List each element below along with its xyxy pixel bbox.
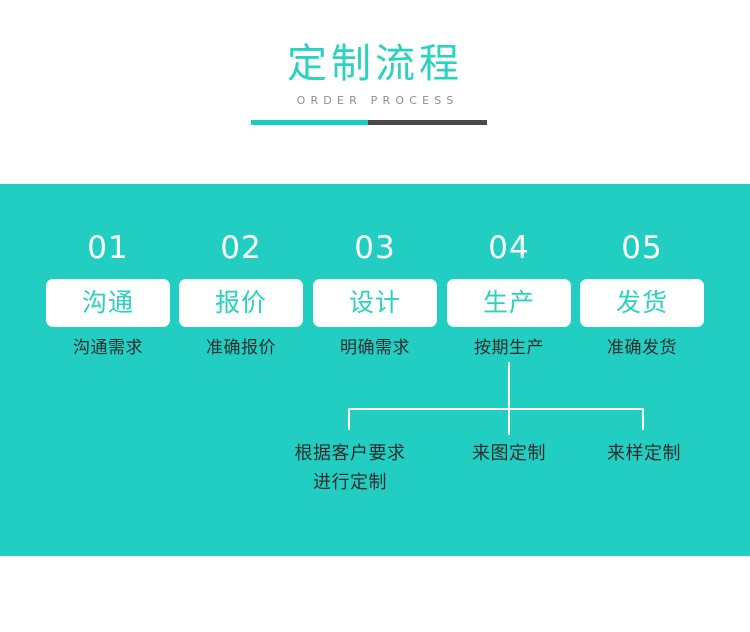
step-number: 04 [447,230,571,266]
step-box[interactable]: 生产 [447,279,571,327]
step-box-label: 发货 [616,288,668,318]
custom-note-left: 根据客户要求 进行定制 [255,439,445,497]
custom-note-middle-line1: 来图定制 [434,439,584,468]
bracket-drop-middle-line [508,408,510,435]
process-step-01[interactable]: 01 沟通 沟通需求 [46,230,170,360]
custom-note-right: 来样定制 [569,439,719,468]
step-caption: 明确需求 [313,336,437,360]
order-process-panel: 01 沟通 沟通需求 02 报价 准确报价 03 设计 明确需求 04 生产 按… [0,184,750,556]
step-box-label: 沟通 [82,288,134,318]
bracket-horizontal-rail [348,408,644,410]
step-box-label: 生产 [483,288,535,318]
bracket-drop-right-line [642,408,644,430]
step-number: 05 [580,230,704,266]
step-box-label: 设计 [349,288,401,318]
process-step-05[interactable]: 05 发货 准确发货 [580,230,704,360]
process-step-02[interactable]: 02 报价 准确报价 [179,230,303,360]
page-title: 定制流程 [0,38,750,90]
footer-whitespace [0,556,750,632]
page-subtitle: ORDER PROCESS [0,93,750,109]
page-header: 定制流程 ORDER PROCESS [0,0,750,184]
step-caption: 沟通需求 [46,336,170,360]
bracket-drop-left-line [348,408,350,430]
custom-note-left-line1: 根据客户要求 [255,439,445,468]
step-number: 03 [313,230,437,266]
step-box-label: 报价 [215,288,267,318]
step-caption: 准确报价 [179,336,303,360]
step-box[interactable]: 发货 [580,279,704,327]
header-divider-accent [251,120,368,125]
step-caption: 按期生产 [447,336,571,360]
custom-note-right-line1: 来样定制 [569,439,719,468]
step-box[interactable]: 沟通 [46,279,170,327]
step-box[interactable]: 设计 [313,279,437,327]
step-box[interactable]: 报价 [179,279,303,327]
custom-note-middle: 来图定制 [434,439,584,468]
process-step-03[interactable]: 03 设计 明确需求 [313,230,437,360]
step-number: 01 [46,230,170,266]
bracket-stem-line [508,362,510,409]
step-number: 02 [179,230,303,266]
process-step-04[interactable]: 04 生产 按期生产 [447,230,571,360]
step-caption: 准确发货 [580,336,704,360]
header-divider-rule [251,120,487,125]
custom-note-left-line2: 进行定制 [255,468,445,497]
